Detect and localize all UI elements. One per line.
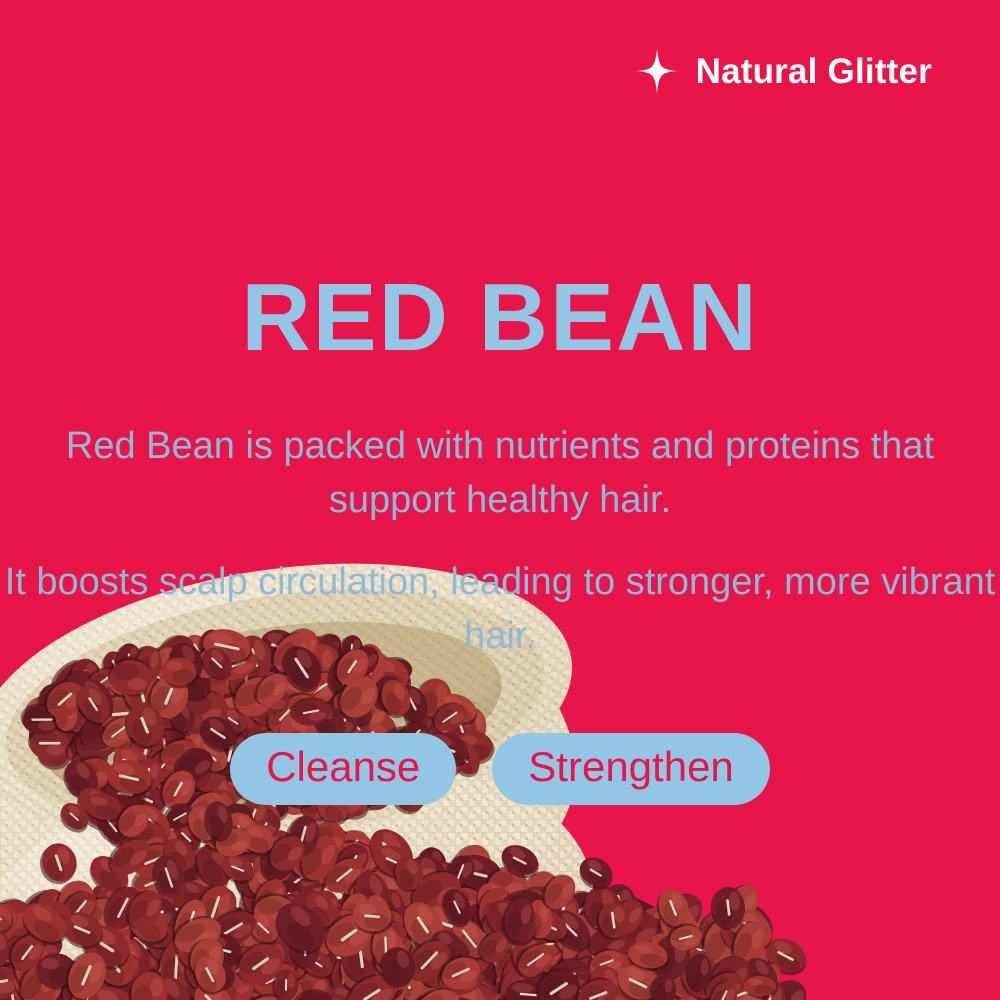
- description-paragraph-2: It boosts scalp circulation, leading to …: [0, 556, 1000, 664]
- benefit-pill-row: Cleanse Strengthen: [0, 733, 1000, 805]
- page-title: RED BEAN: [0, 270, 1000, 366]
- product-ingredient-card: Natural Glitter RED BEAN Red Bean is pac…: [0, 0, 1000, 1000]
- sparkle-star-icon: [634, 48, 680, 94]
- benefit-pill-strengthen[interactable]: Strengthen: [492, 733, 770, 805]
- brand-lockup: Natural Glitter: [634, 48, 932, 94]
- description-paragraph-1: Red Bean is packed with nutrients and pr…: [0, 420, 1000, 528]
- benefit-pill-cleanse[interactable]: Cleanse: [230, 733, 456, 805]
- brand-name: Natural Glitter: [696, 54, 932, 89]
